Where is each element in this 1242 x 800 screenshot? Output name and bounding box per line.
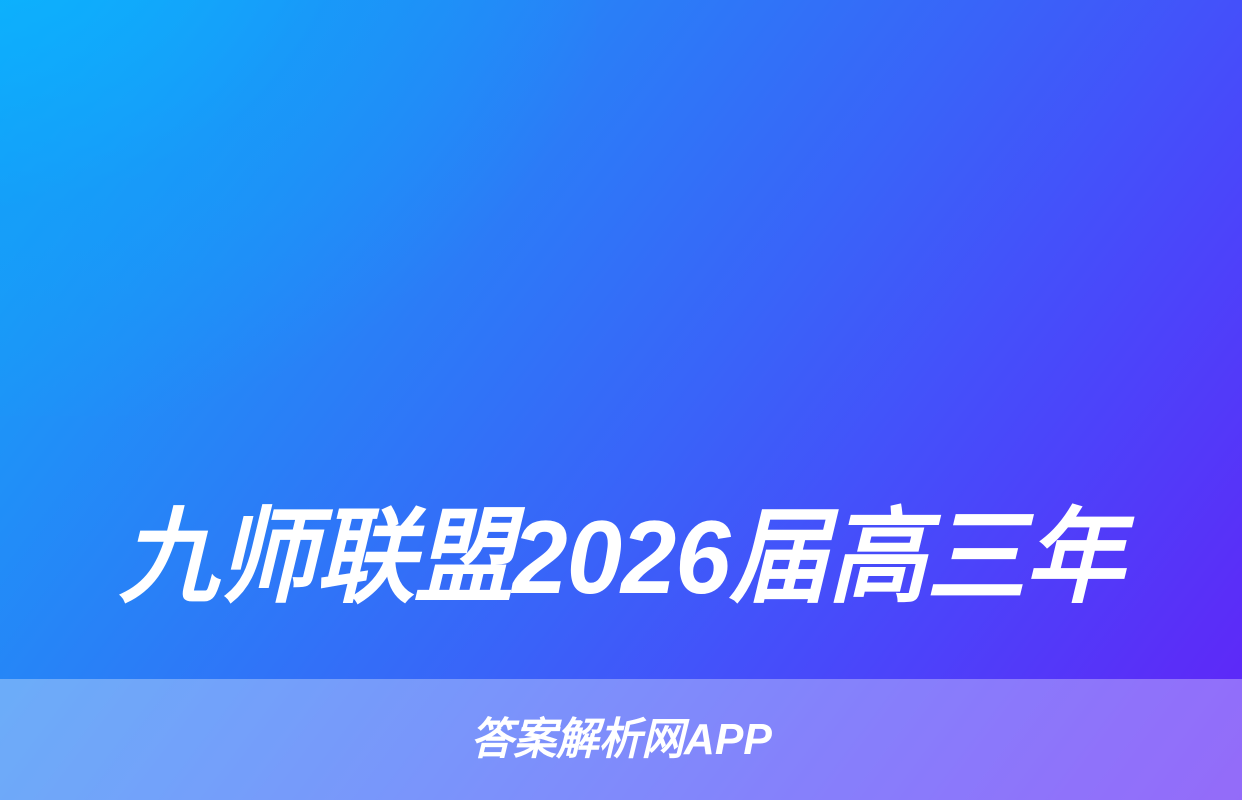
watermark-band: 答案解析网APP — [0, 679, 1242, 800]
exam-cover-banner: 九师联盟2026届高三年 级9月联考（G）物理试 题 答案解析网APP — [0, 0, 1242, 800]
watermark-label: 答案解析网APP — [470, 718, 771, 762]
page-title-line-1: 九师联盟2026届高三年 — [78, 482, 1165, 634]
